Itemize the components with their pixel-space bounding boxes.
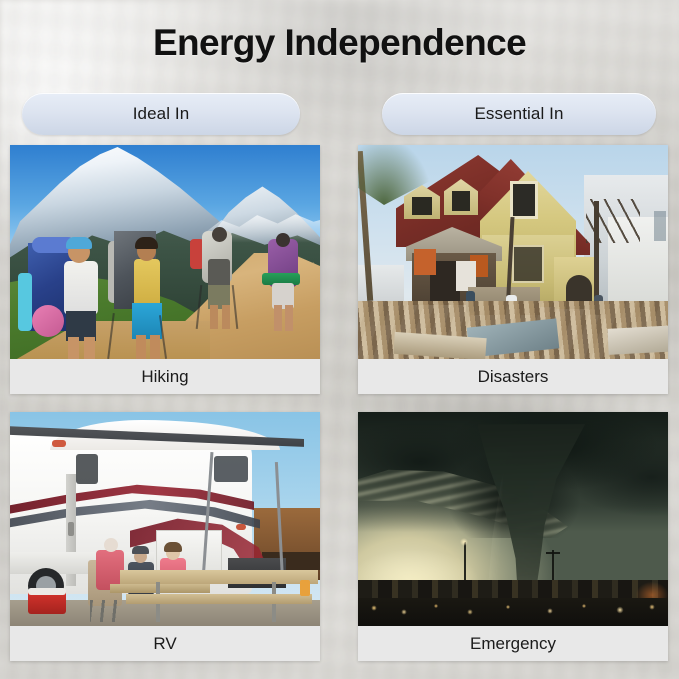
header-pill-ideal-label: Ideal In — [133, 104, 190, 124]
photo-hiking — [10, 145, 320, 359]
pink-gear — [32, 305, 64, 337]
caption-hiking-label: Hiking — [141, 367, 188, 387]
hiker-white-shirt — [64, 261, 98, 315]
hiker-head — [212, 227, 227, 242]
card-disasters: Disasters — [358, 145, 668, 394]
header-pill-essential: Essential In — [382, 93, 656, 135]
card-rv: RV — [10, 412, 320, 661]
hiker-leg — [84, 337, 95, 359]
caption-rv-label: RV — [153, 634, 176, 654]
rv-window — [76, 454, 98, 484]
person-cap — [132, 546, 149, 554]
picnic-bench — [126, 594, 312, 604]
caption-disasters-label: Disasters — [478, 367, 549, 387]
caption-emergency-label: Emergency — [470, 634, 556, 654]
camp-chair-legs — [90, 600, 120, 622]
building-silhouettes — [358, 580, 668, 600]
caption-rv: RV — [10, 626, 320, 661]
hiker-leg — [285, 305, 293, 331]
card-emergency: Emergency — [358, 412, 668, 661]
parking-lot-lights — [358, 598, 668, 626]
dormer-window — [452, 191, 470, 211]
hiker-leg — [274, 305, 282, 331]
hiker-teal-shorts — [132, 303, 162, 339]
photo-emergency — [358, 412, 668, 626]
rv-window — [214, 456, 248, 482]
hiker-leg — [210, 305, 218, 329]
debris-plank — [607, 325, 668, 355]
hiker-leg — [222, 305, 230, 329]
rv-marker-light — [52, 440, 66, 447]
picnic-bench — [110, 584, 210, 593]
person-hair — [164, 542, 182, 552]
caption-disasters: Disasters — [358, 359, 668, 394]
photo-disasters — [358, 145, 668, 359]
rv-door-handle — [68, 522, 74, 536]
infographic-root: Energy Independence Ideal In Essential I… — [0, 0, 679, 679]
hiker-hair — [135, 237, 158, 249]
tower-light — [460, 538, 468, 546]
hiker-leg — [68, 337, 79, 359]
sleeping-pad — [18, 273, 32, 331]
cooler-lid — [28, 588, 66, 595]
hiker-leg — [150, 335, 160, 359]
drink-cup — [300, 580, 310, 596]
header-pill-ideal: Ideal In — [22, 93, 300, 135]
rv-marker-light — [236, 524, 246, 530]
dormer-window — [412, 197, 432, 215]
page-title: Energy Independence — [0, 22, 679, 64]
picnic-table — [120, 570, 318, 584]
caption-hiking: Hiking — [10, 359, 320, 394]
building-window — [654, 211, 666, 241]
hiker-leg — [136, 335, 146, 359]
photo-rv — [10, 412, 320, 626]
hiker-cap — [66, 237, 92, 249]
hiker-yellow-top — [134, 259, 160, 307]
orange-panel — [414, 249, 436, 275]
person-head — [104, 538, 118, 552]
broken-window — [512, 245, 544, 283]
hiker-head — [276, 233, 290, 247]
caption-emergency: Emergency — [358, 626, 668, 661]
broken-window — [510, 181, 538, 219]
card-hiking: Hiking — [10, 145, 320, 394]
utility-pole-arm — [546, 552, 560, 554]
header-pill-essential-label: Essential In — [474, 104, 563, 124]
